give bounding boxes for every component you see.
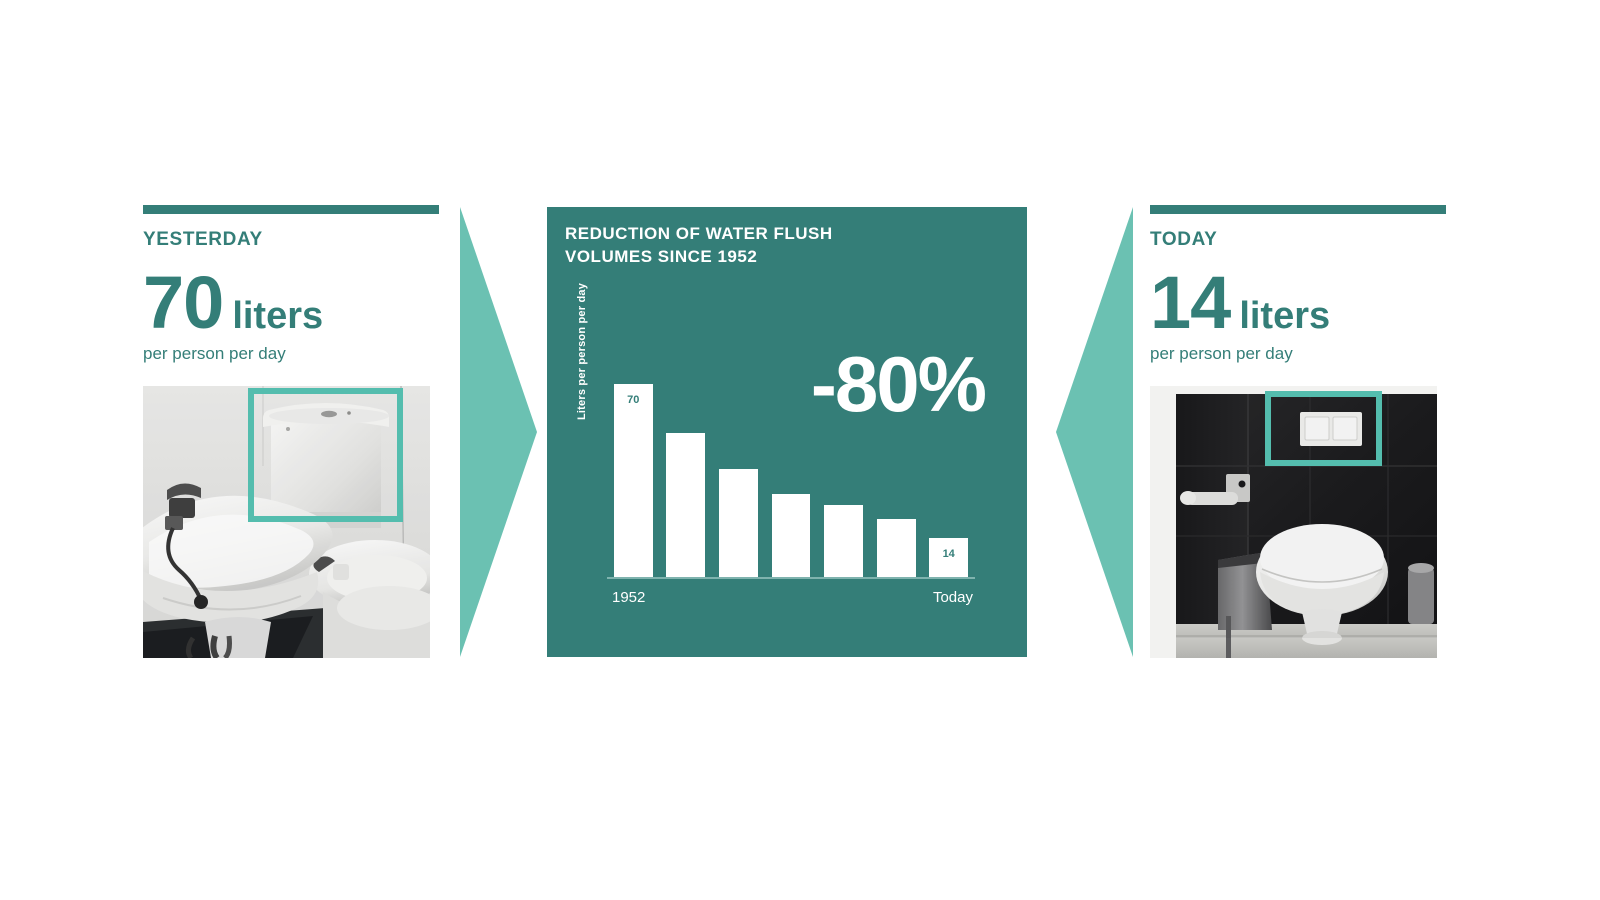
flush-plate-highlight-box: [1265, 391, 1382, 466]
panel-eyebrow-yesterday: YESTERDAY: [143, 230, 439, 249]
chart-y-axis-label: Liters per person per day: [576, 270, 588, 420]
chart-axis-line: [607, 577, 975, 579]
chart-bar: [772, 494, 811, 577]
chart-title: REDUCTION OF WATER FLUSH VOLUMES SINCE 1…: [565, 223, 833, 269]
stat-subtitle-today: per person per day: [1150, 345, 1446, 362]
stat-subtitle-yesterday: per person per day: [143, 345, 439, 362]
panel-yesterday: YESTERDAY 70 liters per person per day: [143, 205, 439, 362]
chart-bar: [719, 469, 758, 577]
stat-unit-yesterday: liters: [232, 297, 323, 335]
photo-today: [1150, 386, 1437, 658]
chart-bar: [666, 433, 705, 577]
stat-number-today: 14: [1150, 269, 1230, 337]
chart-bar-value: 70: [614, 394, 653, 406]
chart-bar: [877, 519, 916, 577]
photo-yesterday: [143, 386, 430, 658]
panel-stat-yesterday: 70 liters: [143, 269, 439, 337]
chart-xtick-first: 1952: [612, 589, 645, 606]
chart-bar-value: 14: [929, 548, 968, 560]
stat-number-yesterday: 70: [143, 269, 223, 337]
panel-stat-today: 14 liters: [1150, 269, 1446, 337]
arrow-left-icon: [1050, 207, 1138, 657]
panel-today: TODAY 14 liters per person per day: [1150, 205, 1446, 362]
chart-bar: 14: [929, 538, 968, 577]
chart-bar: 70: [614, 384, 653, 577]
panel-eyebrow-today: TODAY: [1150, 230, 1446, 249]
chart-bar: [824, 505, 863, 577]
chart-plot-area: 7014: [607, 367, 975, 577]
chart-xtick-last: Today: [933, 589, 973, 606]
chart-card: REDUCTION OF WATER FLUSH VOLUMES SINCE 1…: [547, 207, 1027, 657]
panel-top-rule-yesterday: [143, 205, 439, 214]
arrow-right-icon: [455, 207, 543, 657]
infographic-canvas: YESTERDAY 70 liters per person per day: [0, 0, 1600, 900]
stat-unit-today: liters: [1239, 297, 1330, 335]
panel-top-rule-today: [1150, 205, 1446, 214]
cistern-highlight-box: [248, 388, 403, 522]
